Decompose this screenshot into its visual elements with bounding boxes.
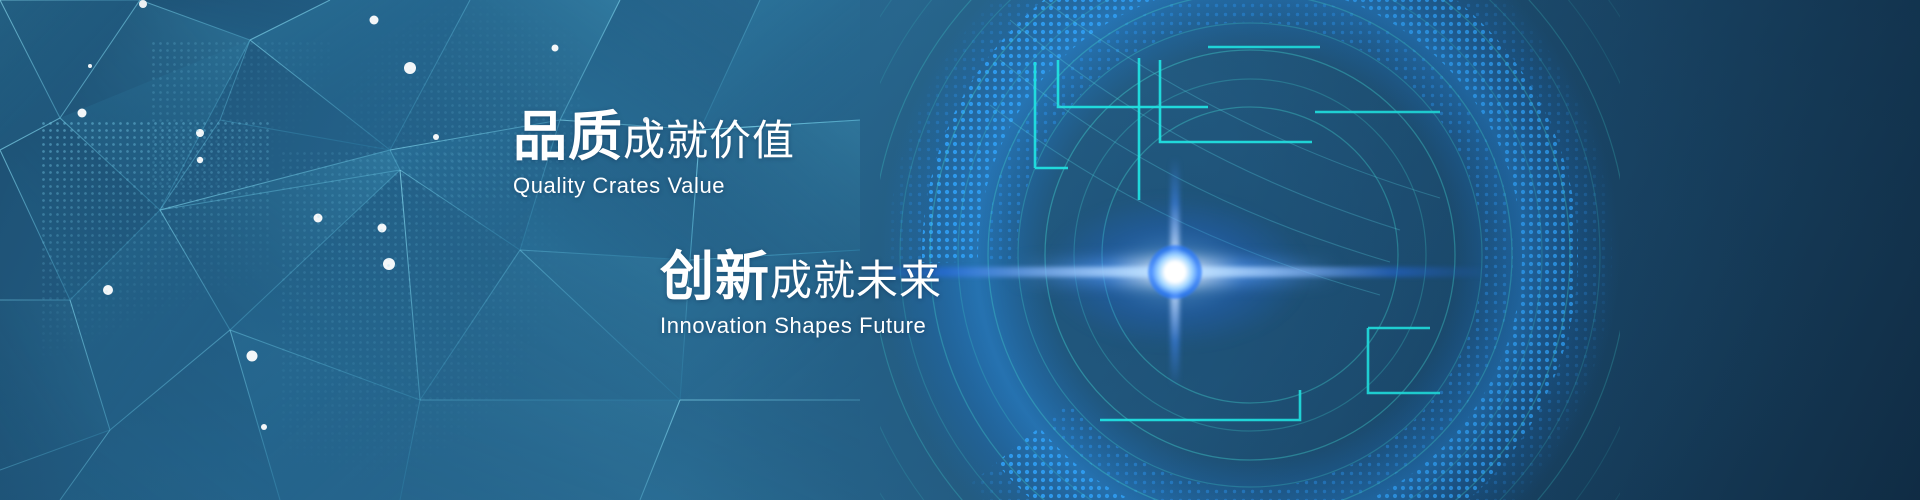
slogan-innovation-en: Innovation Shapes Future: [660, 313, 942, 339]
cyan-circuit-traces: [0, 0, 1920, 500]
slogan-innovation: 创新成就未来 Innovation Shapes Future: [660, 250, 942, 339]
hero-banner: 品质成就价值 Quality Crates Value 创新成就未来 Innov…: [0, 0, 1920, 500]
slogan-innovation-cn: 创新成就未来: [660, 250, 942, 304]
slogan-quality: 品质成就价值 Quality Crates Value: [513, 110, 795, 199]
slogan-quality-en: Quality Crates Value: [513, 173, 795, 199]
slogan-innovation-cn-light: 成就未来: [770, 257, 942, 304]
slogan-innovation-cn-strong: 创新: [660, 247, 770, 307]
slogan-quality-cn: 品质成就价值: [513, 110, 795, 164]
slogan-quality-cn-light: 成就价值: [623, 117, 795, 164]
slogan-quality-cn-strong: 品质: [513, 107, 623, 167]
